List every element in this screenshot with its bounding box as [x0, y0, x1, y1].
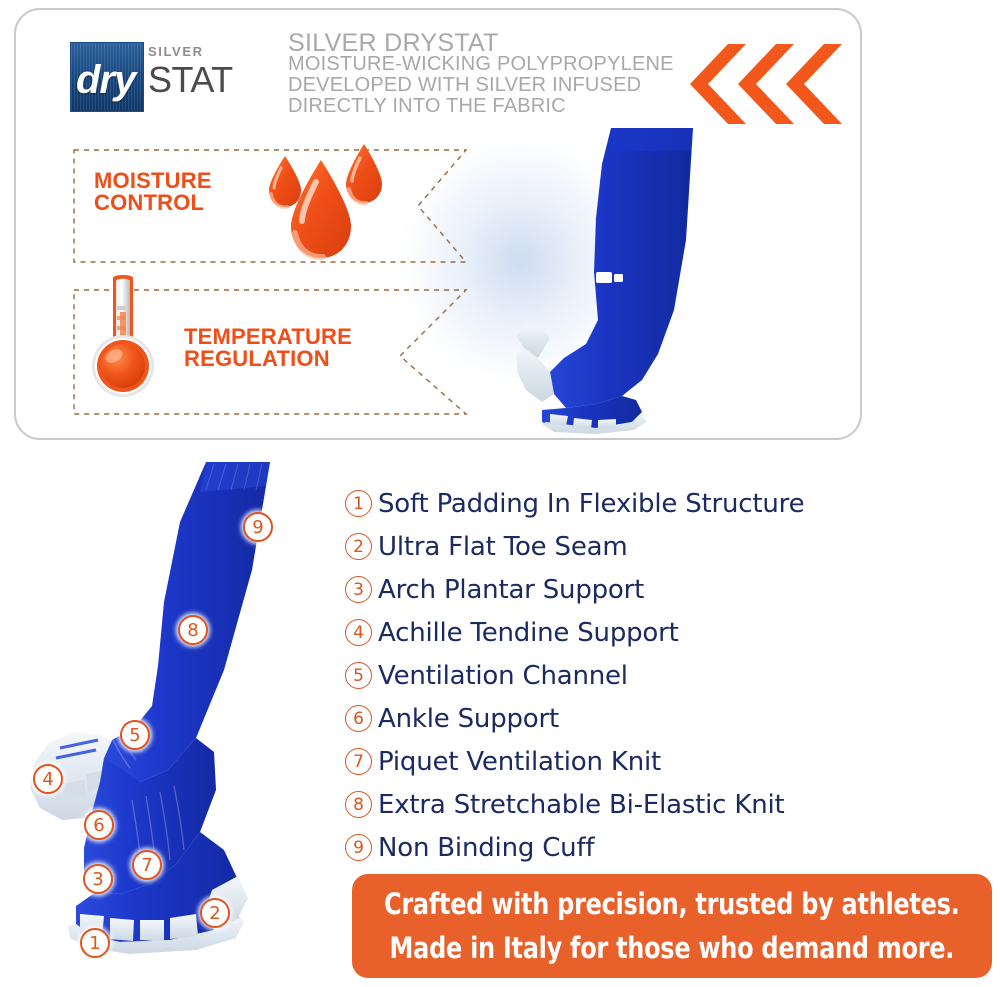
sock-callout-8[interactable]: 8 — [178, 615, 208, 645]
list-item: 5 Ventilation Channel — [345, 654, 995, 697]
list-item: 6 Ankle Support — [345, 697, 995, 740]
sock-callout-2[interactable]: 2 — [200, 898, 230, 928]
water-droplets-icon — [261, 138, 391, 263]
logo-silver-text: SILVER — [148, 44, 204, 59]
list-item: 3 Arch Plantar Support — [345, 568, 995, 611]
list-item: 7 Piquet Ventilation Knit — [345, 740, 995, 783]
sock-diagram: 1 2 3 4 5 6 7 8 9 — [0, 452, 340, 972]
headline-sub-1: MOISTURE-WICKING POLYPROPYLENE — [288, 54, 688, 75]
feature-number: 2 — [345, 533, 372, 560]
feature-label: Piquet Ventilation Knit — [378, 747, 661, 777]
feature-label: Arch Plantar Support — [378, 575, 644, 605]
infographic-root: SILVER STAT dry SILVER DRYSTAT MOISTURE-… — [0, 0, 1000, 987]
feature-label: Extra Stretchable Bi-Elastic Knit — [378, 790, 785, 820]
sock-callout-5[interactable]: 5 — [120, 720, 150, 750]
sock-callout-7[interactable]: 7 — [132, 850, 162, 880]
feature-label: Soft Padding In Flexible Structure — [378, 489, 804, 519]
moisture-label-line-2: CONTROL — [94, 192, 212, 214]
list-item: 9 Non Binding Cuff — [345, 826, 995, 869]
feature-number: 4 — [345, 619, 372, 646]
temperature-label-line-2: REGULATION — [184, 348, 352, 370]
feature-number: 1 — [345, 490, 372, 517]
headline-block: SILVER DRYSTAT MOISTURE-WICKING POLYPROP… — [288, 32, 688, 117]
headline-sub-2: DEVELOPED WITH SILVER INFUSED — [288, 75, 688, 96]
feature-number: 7 — [345, 748, 372, 775]
moisture-control-label: MOISTURE CONTROL — [94, 170, 212, 215]
sock-callout-9[interactable]: 9 — [243, 512, 273, 542]
feature-number: 6 — [345, 705, 372, 732]
logo-stat-text: STAT — [148, 62, 233, 98]
feature-number: 8 — [345, 791, 372, 818]
sock-callout-4[interactable]: 4 — [33, 764, 63, 794]
sock-callout-3[interactable]: 3 — [83, 864, 113, 894]
top-feature-panel: SILVER STAT dry SILVER DRYSTAT MOISTURE-… — [14, 8, 862, 440]
feature-label: Achille Tendine Support — [378, 618, 679, 648]
feature-label: Non Binding Cuff — [378, 833, 594, 863]
drystat-logo: SILVER STAT dry — [70, 36, 230, 114]
list-item: 1 Soft Padding In Flexible Structure — [345, 482, 995, 525]
feature-label: Ventilation Channel — [378, 661, 628, 691]
feature-number: 5 — [345, 662, 372, 689]
feature-label: Ankle Support — [378, 704, 559, 734]
chevron-left-icon — [784, 42, 846, 126]
list-item: 2 Ultra Flat Toe Seam — [345, 525, 995, 568]
feature-list: 1 Soft Padding In Flexible Structure 2 U… — [345, 482, 995, 869]
logo-dry-text: dry — [76, 60, 135, 100]
chevron-group — [688, 42, 848, 126]
feature-number: 3 — [345, 576, 372, 603]
sock-brand-mark-icon — [84, 704, 118, 726]
sock-callout-1[interactable]: 1 — [80, 928, 110, 958]
list-item: 8 Extra Stretchable Bi-Elastic Knit — [345, 783, 995, 826]
feature-number: 9 — [345, 834, 372, 861]
temperature-regulation-label: TEMPERATURE REGULATION — [184, 326, 352, 371]
moisture-label-line-1: MOISTURE — [94, 170, 212, 192]
tagline-banner: Crafted with precision, trusted by athle… — [352, 874, 992, 978]
tagline-line-2: Made in Italy for those who demand more. — [390, 926, 955, 970]
thermometer-icon — [86, 272, 162, 400]
tagline-line-1: Crafted with precision, trusted by athle… — [384, 882, 959, 926]
temperature-label-line-1: TEMPERATURE — [184, 326, 352, 348]
feature-label: Ultra Flat Toe Seam — [378, 532, 628, 562]
headline-title: SILVER DRYSTAT — [288, 32, 688, 54]
sock-callout-6[interactable]: 6 — [84, 810, 114, 840]
list-item: 4 Achille Tendine Support — [345, 611, 995, 654]
